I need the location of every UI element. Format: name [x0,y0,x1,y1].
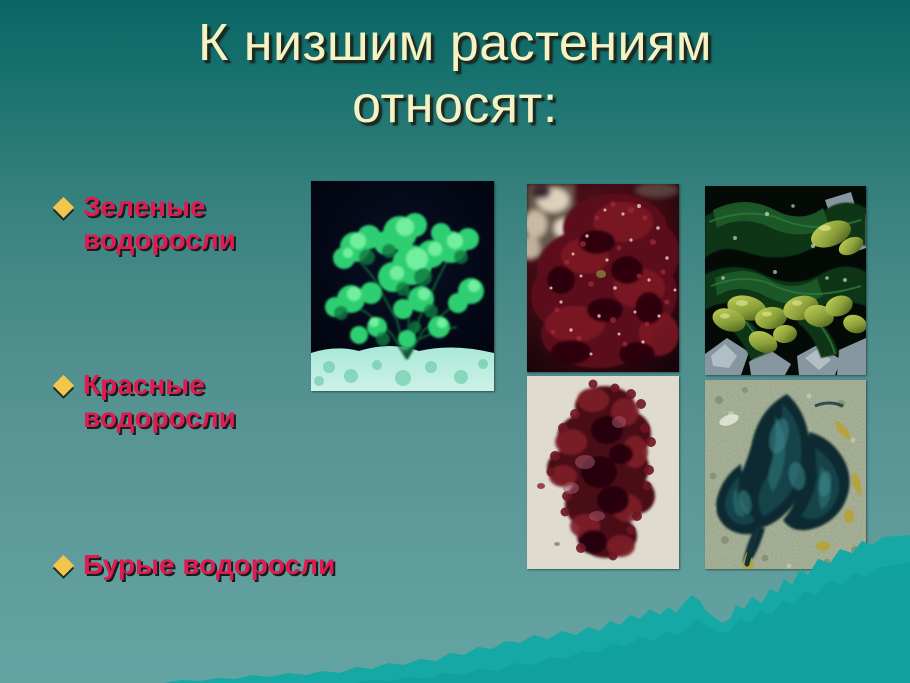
brown-algae-photo-bottom [705,380,866,569]
diamond-bullet-icon [53,375,74,396]
diamond-bullet-icon [53,555,74,576]
red-algae-image-top [527,184,679,372]
page-title: К низшим растениям относят: [0,12,910,136]
brown-algae-image-top [705,186,866,375]
list-item: Зеленые водоросли [56,190,236,256]
list-item-label: Зеленые водоросли [83,190,236,256]
title-line-1: К низшим растениям [0,12,910,74]
red-algae-image-bottom [527,376,679,569]
green-algae-photo [311,181,494,391]
diamond-bullet-icon [53,197,74,218]
brown-algae-photo-top [705,186,866,375]
list-item-label: Красные водоросли [83,368,236,434]
slide: К низшим растениям относят: Зеленые водо… [0,0,910,683]
list-item: Бурые водоросли [56,548,335,581]
red-algae-photo-top [527,184,679,372]
list-item: Красные водоросли [56,368,236,434]
green-algae-image [311,181,494,391]
title-line-2: относят: [0,74,910,136]
red-algae-photo-bottom [527,376,679,569]
list-item-label: Бурые водоросли [83,548,335,581]
brown-algae-image-bottom [705,380,866,569]
